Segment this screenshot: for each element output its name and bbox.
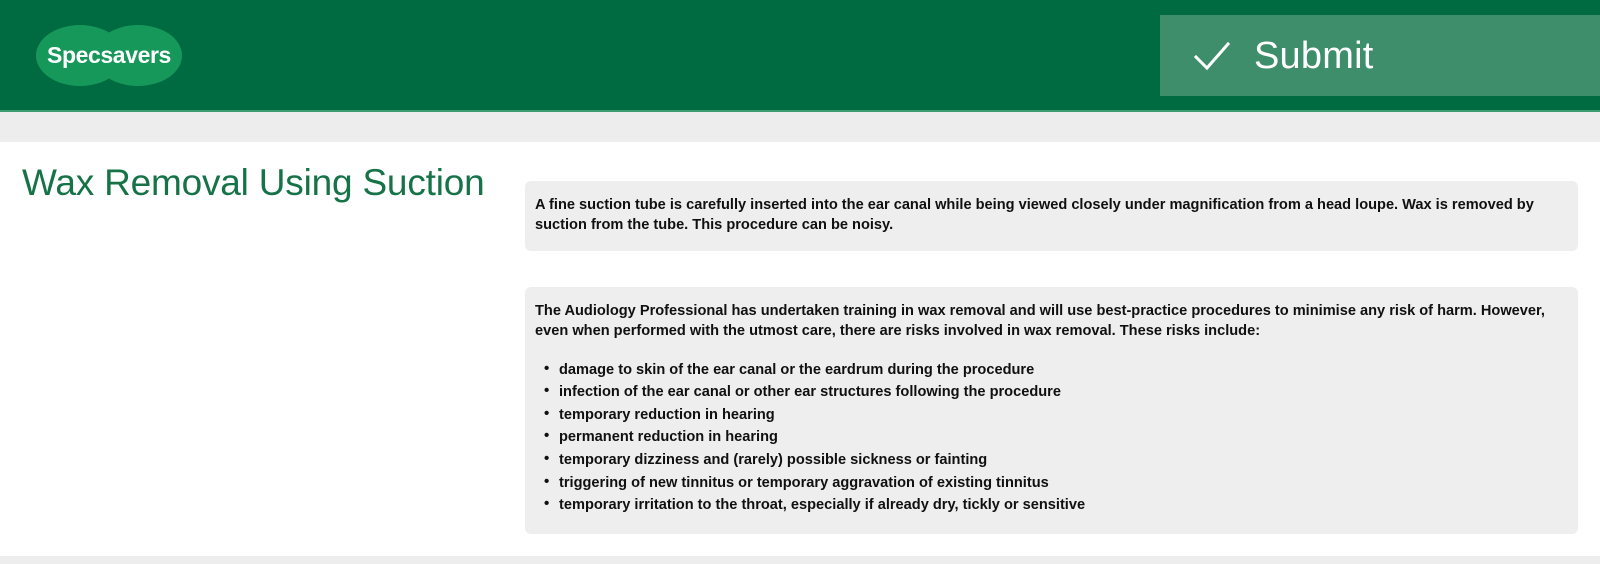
list-item: temporary reduction in hearing <box>535 405 1566 425</box>
risks-list: damage to skin of the ear canal or the e… <box>535 360 1566 516</box>
specsavers-logo-icon: Specsavers <box>36 25 182 86</box>
panel-stack: A fine suction tube is carefully inserte… <box>525 181 1578 534</box>
submit-button[interactable]: Submit <box>1160 15 1600 96</box>
main-content: Wax Removal Using Suction A fine suction… <box>0 142 1600 556</box>
list-item: permanent reduction in hearing <box>535 427 1566 447</box>
panel-paragraph: The Audiology Professional has undertake… <box>535 301 1566 341</box>
procedure-description-panel: A fine suction tube is carefully inserte… <box>525 181 1578 251</box>
app-header: Specsavers Submit <box>0 0 1600 110</box>
risks-panel: The Audiology Professional has undertake… <box>525 287 1578 534</box>
list-item: damage to skin of the ear canal or the e… <box>535 360 1566 380</box>
logo-wordmark: Specsavers <box>36 25 182 86</box>
app-root: Specsavers Submit Wax Removal Using Suct… <box>0 0 1600 564</box>
page-title: Wax Removal Using Suction <box>22 162 484 204</box>
list-item: temporary irritation to the throat, espe… <box>535 495 1566 515</box>
bottom-band <box>0 556 1600 564</box>
sub-header-band <box>0 112 1600 142</box>
panel-paragraph: A fine suction tube is carefully inserte… <box>535 195 1566 235</box>
list-item: infection of the ear canal or other ear … <box>535 382 1566 402</box>
list-item: temporary dizziness and (rarely) possibl… <box>535 450 1566 470</box>
submit-button-label: Submit <box>1254 37 1373 75</box>
list-item: triggering of new tinnitus or temporary … <box>535 473 1566 493</box>
check-icon <box>1190 34 1234 78</box>
